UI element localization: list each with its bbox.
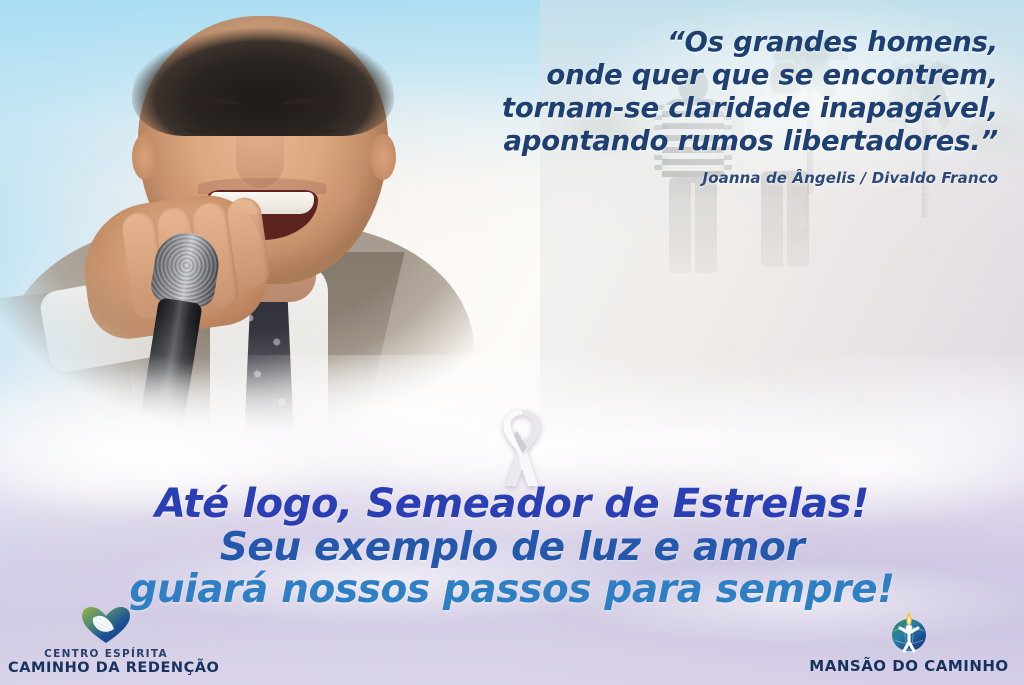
portrait-eye-right (284, 122, 338, 134)
portrait-eye-left (184, 122, 238, 134)
quote-line-4: apontando rumos libertadores.” (438, 125, 998, 158)
headline-line-2: Seu exemplo de luz e amor (0, 528, 1024, 569)
heart-hands-icon (80, 605, 132, 645)
logo-centro-espirita[interactable]: CENTRO ESPÍRITA CAMINHO DA REDENÇÃO (8, 605, 204, 677)
portrait-eyebrow-left (178, 98, 240, 112)
headline-line-1: Até logo, Semeador de Estrelas! (0, 484, 1024, 526)
globe-figure-flame-icon (886, 609, 932, 655)
quote-line-3: tornam-se claridade inapagável, (438, 92, 998, 125)
logo-right-line-1: MANSÃO DO CAMINHO (804, 658, 1014, 675)
quote-line-1: “Os grandes homens, (438, 26, 998, 59)
quote-attribution: Joanna de Ângelis / Divaldo Franco (438, 169, 998, 187)
portrait-ear-left (132, 134, 158, 180)
headline-block: Até logo, Semeador de Estrelas! Seu exem… (0, 484, 1024, 611)
quote-line-2: onde quer que se encontrem, (438, 59, 998, 92)
tribute-poster: “Os grandes homens, onde quer que se enc… (0, 0, 1024, 685)
quote-block: “Os grandes homens, onde quer que se enc… (438, 26, 998, 187)
logo-left-line-2: CAMINHO DA REDENÇÃO (8, 660, 204, 677)
portrait-hair (132, 4, 394, 136)
white-mourning-ribbon-icon (487, 406, 557, 488)
portrait-eyebrow-right (280, 98, 342, 112)
logo-left-line-1: CENTRO ESPÍRITA (8, 648, 204, 660)
portrait-ear-right (370, 134, 396, 180)
logo-mansao-do-caminho[interactable]: MANSÃO DO CAMINHO (804, 609, 1014, 675)
